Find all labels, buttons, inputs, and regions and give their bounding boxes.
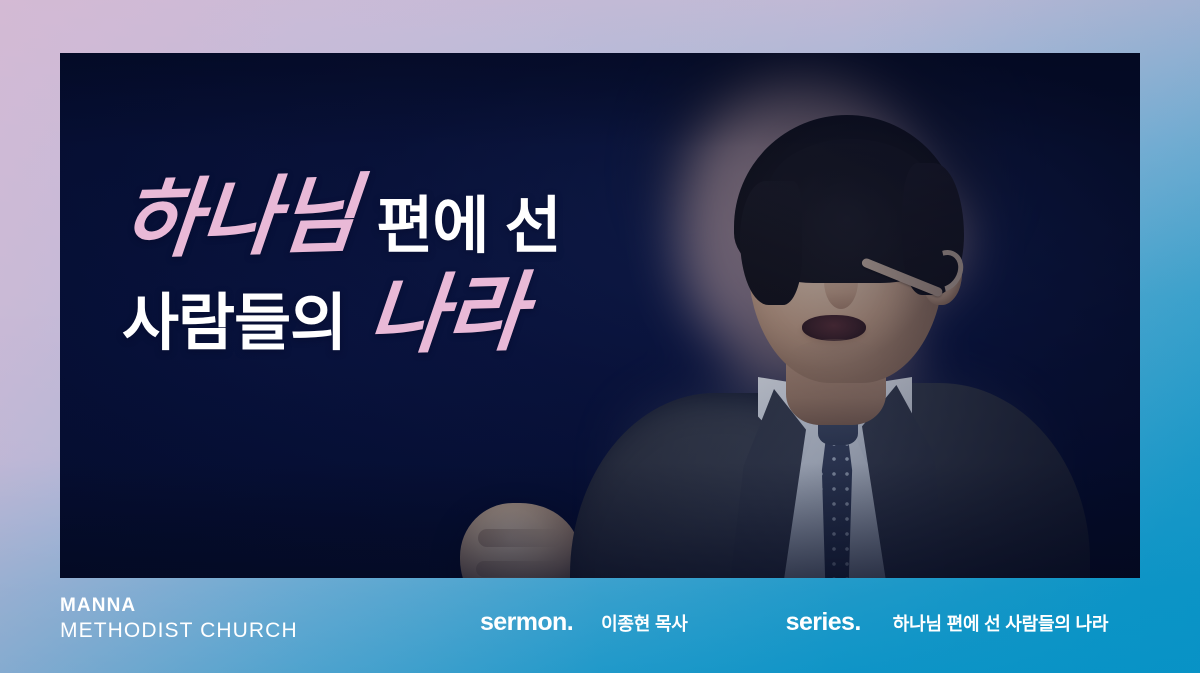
series-label: series. bbox=[786, 608, 861, 637]
speaker-fist-gesture bbox=[460, 503, 580, 578]
sermon-label: sermon. bbox=[480, 608, 573, 637]
sermon-title-card: 하나님 편에 선 사람들의 나라 MANNA METHODIST CHURCH … bbox=[0, 0, 1200, 673]
footer-bar: MANNA METHODIST CHURCH sermon. 이종현 목사 se… bbox=[0, 578, 1200, 673]
sermon-title-line-2: 사람들의 나라 bbox=[122, 269, 742, 360]
sermon-title-solid-1: 편에 선 bbox=[376, 193, 560, 261]
sermon-title: 하나님 편에 선 사람들의 나라 bbox=[122, 172, 742, 360]
sermon-title-script-1: 하나님 bbox=[117, 169, 361, 267]
footer-metadata: sermon. 이종현 목사 series. 하나님 편에 선 사람들의 나라 bbox=[480, 608, 1108, 637]
church-brand-line-2: METHODIST CHURCH bbox=[60, 618, 298, 644]
series-name: 하나님 편에 선 사람들의 나라 bbox=[893, 610, 1109, 636]
sermon-title-solid-2: 사람들의 bbox=[122, 290, 346, 358]
sermon-speaker-name: 이종현 목사 bbox=[601, 610, 688, 636]
church-brand-line-1: MANNA bbox=[60, 594, 298, 618]
sermon-title-line-1: 하나님 편에 선 bbox=[122, 172, 742, 263]
church-brand: MANNA METHODIST CHURCH bbox=[60, 594, 298, 644]
sermon-title-script-2: 나라 bbox=[364, 267, 529, 362]
speaker-photo: 하나님 편에 선 사람들의 나라 bbox=[60, 53, 1140, 578]
speaker-chin bbox=[788, 339, 882, 379]
speaker-mouth bbox=[802, 315, 866, 341]
